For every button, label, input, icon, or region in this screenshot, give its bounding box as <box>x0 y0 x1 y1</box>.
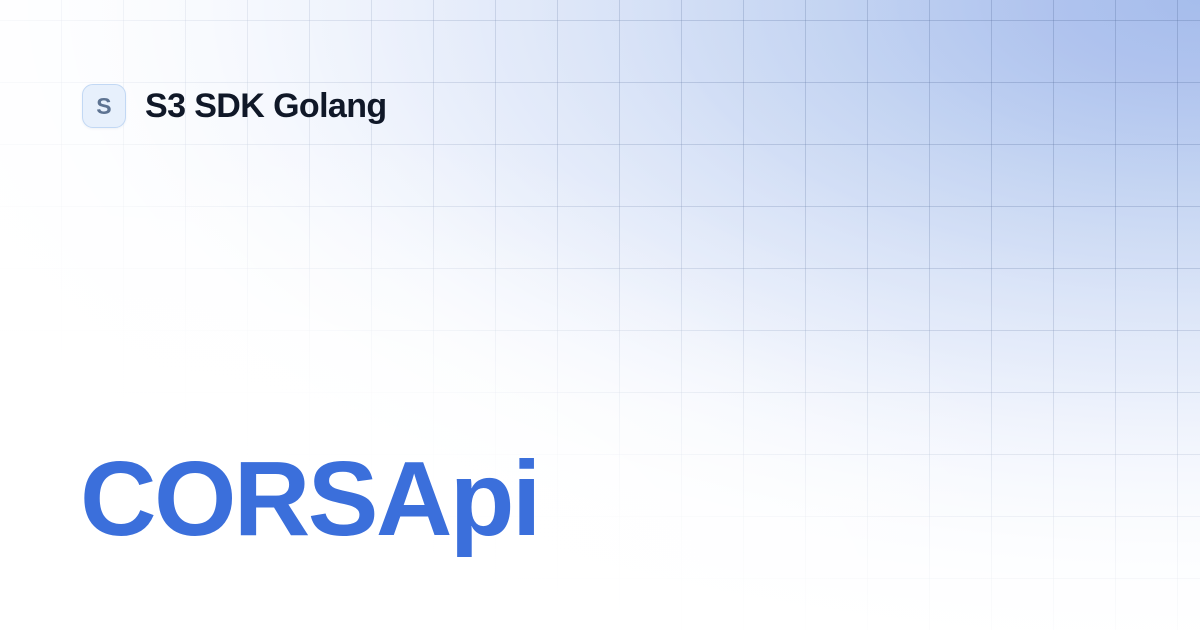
brand-name-label: S3 SDK Golang <box>145 89 387 123</box>
card-content: S S3 SDK Golang CORSApi <box>0 0 1200 630</box>
brand-logo-badge: S <box>82 84 126 128</box>
og-card-canvas: S S3 SDK Golang CORSApi <box>0 0 1200 630</box>
brand-lockup: S S3 SDK Golang <box>82 84 387 128</box>
brand-logo-letter: S <box>96 95 112 118</box>
page-title: CORSApi <box>80 446 539 552</box>
